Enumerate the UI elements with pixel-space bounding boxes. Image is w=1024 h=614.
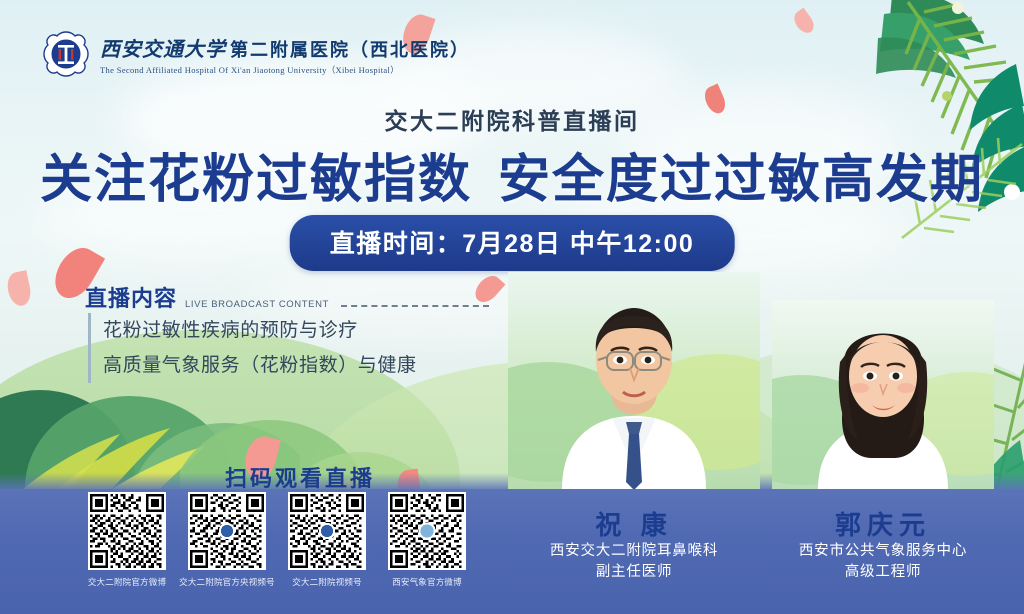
speaker-title: 副主任医师: [498, 562, 770, 583]
qr-code-icon[interactable]: [288, 492, 366, 570]
live-broadcast-poster: 西安交通大学 第二附属医院（西北医院） The Second Affiliate…: [0, 0, 1024, 614]
qr-caption: 交大二附院官方微博: [88, 576, 166, 588]
university-name-cn: 西安交通大学: [100, 33, 226, 62]
qr-code-icon[interactable]: [188, 492, 266, 570]
leaf-decoration: [872, 0, 1024, 116]
list-item[interactable]: 西安气象官方微博: [388, 492, 466, 588]
title-part-2: 安全度过过敏高发期: [498, 151, 984, 209]
portrait-female-engineer: [772, 300, 994, 489]
qr-code-icon[interactable]: [388, 492, 466, 570]
speaker-role: 西安市公共气象服务中心 高级工程师: [762, 541, 1004, 583]
list-item: 高质量气象服务（花粉指数）与健康: [103, 348, 417, 383]
petal-decoration: [790, 8, 817, 37]
speaker-title: 高级工程师: [762, 562, 1004, 583]
title-part-1: 关注花粉过敏指数: [40, 151, 472, 209]
hospital-name-block: 西安交通大学 第二附属医院（西北医院） The Second Affiliate…: [100, 33, 470, 76]
content-items: 花粉过敏性疾病的预防与诊疗 高质量气象服务（花粉指数）与健康: [88, 313, 417, 383]
hospital-logo-row: 西安交通大学 第二附属医院（西北医院） The Second Affiliate…: [42, 30, 470, 78]
poster-kicker: 交大二附院科普直播间: [0, 102, 1024, 136]
qr-caption: 交大二附院视频号: [292, 576, 362, 588]
qr-caption: 交大二附院官方央视频号: [179, 576, 275, 588]
list-item: 花粉过敏性疾病的预防与诊疗: [103, 313, 417, 348]
poster-title: 关注花粉过敏指数安全度过过敏高发期: [0, 137, 1024, 212]
dashed-divider: [341, 305, 489, 307]
qr-section-title: 扫码观看直播: [225, 461, 375, 493]
speaker-role: 西安交大二附院耳鼻喉科 副主任医师: [498, 541, 770, 583]
petal-decoration: [5, 270, 34, 308]
hospital-name-cn: 第二附属医院（西北医院）: [230, 36, 470, 62]
content-heading: 直播内容 LIVE BROADCAST CONTENT: [85, 281, 489, 313]
content-heading-en: LIVE BROADCAST CONTENT: [185, 299, 329, 313]
speaker-affiliation: 西安市公共气象服务中心: [762, 541, 1004, 562]
speaker-name: 祝 康: [508, 505, 760, 542]
qr-code-list: 交大二附院官方微博: [88, 492, 466, 588]
content-heading-cn: 直播内容: [85, 281, 177, 313]
list-item[interactable]: 交大二附院视频号: [288, 492, 366, 588]
qr-caption: 西安气象官方微博: [392, 576, 462, 588]
speaker-affiliation: 西安交大二附院耳鼻喉科: [498, 541, 770, 562]
speaker-name: 郭庆元: [772, 505, 994, 542]
broadcast-time-banner: 直播时间：7月28日 中午12:00: [290, 215, 735, 271]
list-item[interactable]: 交大二附院官方央视频号: [188, 492, 266, 588]
qr-code-icon[interactable]: [88, 492, 166, 570]
list-item[interactable]: 交大二附院官方微博: [88, 492, 166, 588]
university-crest-icon: [42, 30, 90, 78]
portrait-male-doctor: [508, 272, 760, 489]
hospital-name-en: The Second Affiliated Hospital Of Xi'an …: [100, 64, 470, 76]
